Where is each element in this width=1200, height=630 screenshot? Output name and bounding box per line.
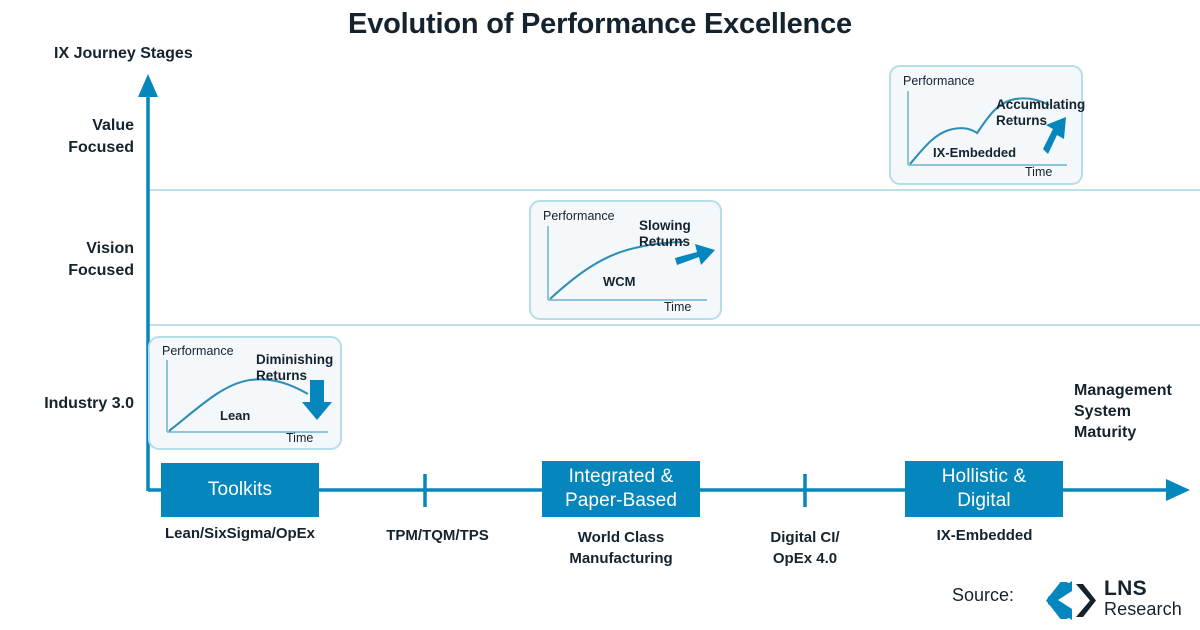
timeline-caption-tpm-tqm-tps: TPM/TQM/TPS <box>350 525 525 546</box>
x-axis-title-line: System <box>1074 401 1172 422</box>
logo-primary-text: LNS <box>1104 578 1182 599</box>
timeline-caption-digital-ci-opex-40: Digital CI/ OpEx 4.0 <box>725 527 885 569</box>
caption-line: IX-Embedded <box>902 525 1067 546</box>
lns-hexagon-bracket-logo <box>1046 579 1098 624</box>
tier-line: Value <box>0 115 134 137</box>
card-returns-label: Slowing Returns <box>639 218 691 250</box>
logo-secondary-text: Research <box>1104 599 1182 620</box>
timeline-caption-world-class-manufacturing: World Class Manufacturing <box>535 527 707 569</box>
diagram-canvas: Evolution of Performance Excellence IX J… <box>0 0 1200 630</box>
inset-card-ix-embedded: Performance Time IX-Embedded Accumulatin… <box>889 65 1083 185</box>
caption-line: Lean/SixSigma/OpEx <box>140 523 340 544</box>
y-tier-label-value-focused: Value Focused <box>0 115 134 159</box>
timeline-box-hollistic-digital[interactable]: Hollistic & Digital <box>905 461 1063 517</box>
logo-text: LNS Research <box>1104 578 1182 620</box>
returns-line: Diminishing <box>256 352 333 368</box>
returns-line: Returns <box>996 113 1085 129</box>
card-curve-label: WCM <box>603 274 636 289</box>
lns-research-logo: LNS Research <box>1046 578 1196 623</box>
returns-line: Slowing <box>639 218 691 234</box>
box-line: Integrated & <box>565 465 677 489</box>
card-y-axis-label: Performance <box>543 209 615 223</box>
timeline-box-integrated-paper-based[interactable]: Integrated & Paper-Based <box>542 461 700 517</box>
returns-line: Accumulating <box>996 97 1085 113</box>
caption-line: OpEx 4.0 <box>725 548 885 569</box>
timeline-caption-lean-sixsigma-opex: Lean/SixSigma/OpEx <box>140 523 340 544</box>
caption-line: TPM/TQM/TPS <box>350 525 525 546</box>
box-line: Toolkits <box>208 478 272 502</box>
y-tier-label-industry-30: Industry 3.0 <box>0 393 134 415</box>
card-returns-label: Accumulating Returns <box>996 97 1085 129</box>
card-x-axis-label: Time <box>1025 165 1052 179</box>
caption-line: World Class <box>535 527 707 548</box>
tier-line: Focused <box>0 137 134 159</box>
card-y-axis-label: Performance <box>903 74 975 88</box>
card-x-axis-label: Time <box>286 431 313 445</box>
source-label: Source: <box>952 585 1014 606</box>
card-returns-label: Diminishing Returns <box>256 352 333 384</box>
box-line: Paper-Based <box>565 489 677 513</box>
tier-line: Vision <box>0 238 134 260</box>
y-axis-title: IX Journey Stages <box>54 45 193 63</box>
timeline-box-toolkits[interactable]: Toolkits <box>161 463 319 517</box>
tier-line: Focused <box>0 260 134 282</box>
box-line: Digital <box>942 489 1027 513</box>
tier-line: Industry 3.0 <box>0 393 134 415</box>
x-axis-title: Management System Maturity <box>1074 380 1172 443</box>
card-x-axis-label: Time <box>664 300 691 314</box>
y-tier-label-vision-focused: Vision Focused <box>0 238 134 282</box>
x-axis-title-line: Maturity <box>1074 422 1172 443</box>
x-axis-title-line: Management <box>1074 380 1172 401</box>
caption-line: Digital CI/ <box>725 527 885 548</box>
card-y-axis-label: Performance <box>162 344 234 358</box>
box-line: Hollistic & <box>942 465 1027 489</box>
card-curve-label: IX-Embedded <box>933 145 1016 160</box>
returns-line: Returns <box>256 368 333 384</box>
card-curve-label: Lean <box>220 408 250 423</box>
inset-card-lean: Performance Time Lean Diminishing Return… <box>148 336 342 450</box>
timeline-caption-ix-embedded: IX-Embedded <box>902 525 1067 546</box>
returns-line: Returns <box>639 234 691 250</box>
inset-card-wcm: Performance Time WCM Slowing Returns <box>529 200 722 320</box>
caption-line: Manufacturing <box>535 548 707 569</box>
